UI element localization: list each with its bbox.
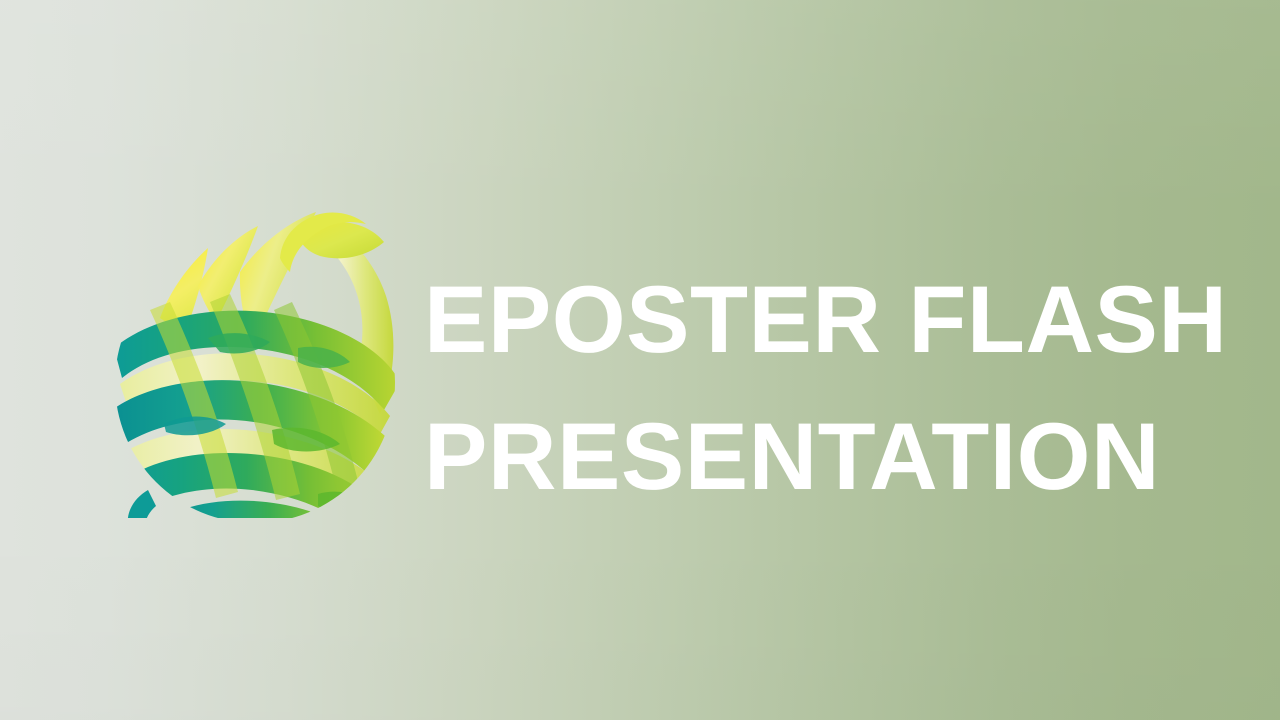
slide-title-block: EPOSTER FLASH PRESENTATION: [424, 252, 1214, 526]
title-line-1: EPOSTER FLASH: [424, 252, 1214, 389]
globe-ribbon-logo: [112, 198, 412, 518]
title-slide: EPOSTER FLASH PRESENTATION: [0, 0, 1280, 720]
title-line-2: PRESENTATION: [424, 389, 1214, 526]
logo-globe-bands: [112, 294, 400, 518]
